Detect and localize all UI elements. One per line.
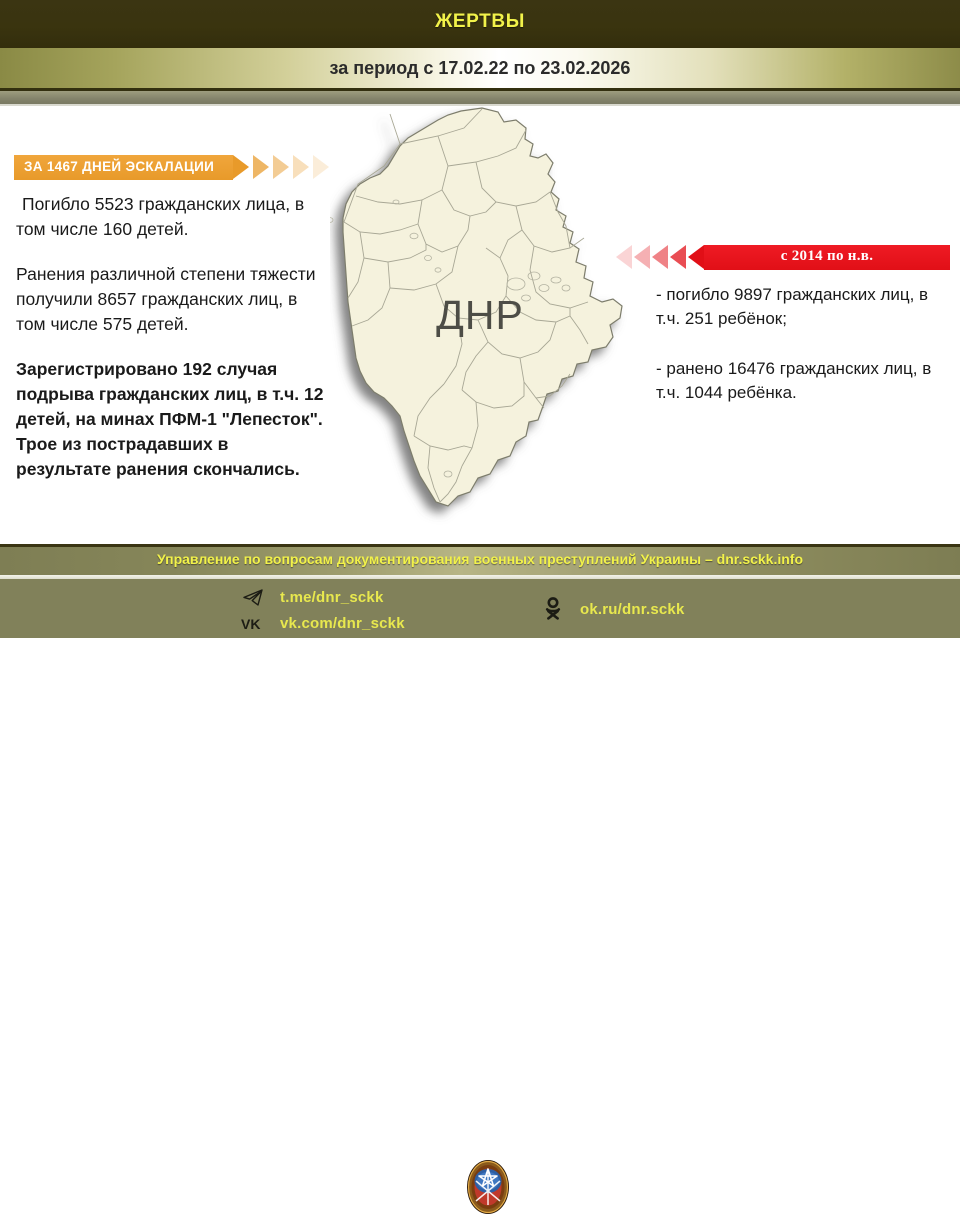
mine-incidents-text: Зарегистрировано 192 случая подрыва граж… xyxy=(16,357,328,482)
chevron-left-icon xyxy=(652,245,668,269)
chevron-left-icon xyxy=(634,245,650,269)
footer-links-left: t.me/dnr_sckk VK vk.com/dnr_sckk xyxy=(240,584,405,636)
wounded-since-2014-text: - ранено 16476 гражданских лиц, в т.ч. 1… xyxy=(656,357,952,405)
dnr-map: ДНР xyxy=(330,106,630,530)
left-statistics-block: Погибло 5523 гражданских лица, в том чис… xyxy=(16,192,328,482)
chevron-left-icon xyxy=(670,245,686,269)
chevron-right-icon xyxy=(313,155,329,179)
since-2014-banner: с 2014 по н.в. xyxy=(628,245,950,270)
map-region-label: ДНР xyxy=(330,292,630,339)
sckk-emblem-icon xyxy=(466,1159,510,1215)
chevron-right-icon xyxy=(253,155,269,179)
right-statistics-block: - погибло 9897 гражданских лиц, в т.ч. 2… xyxy=(656,283,952,405)
chevron-left-icon xyxy=(688,245,704,269)
escalation-days-banner: ЗА 1467 ДНЕЙ ЭСКАЛАЦИИ xyxy=(14,155,332,180)
odnoklassniki-link[interactable]: ok.ru/dnr.sckk xyxy=(540,596,685,622)
odnoklassniki-link-text: ok.ru/dnr.sckk xyxy=(580,601,685,618)
chevron-right-icon xyxy=(273,155,289,179)
telegram-icon xyxy=(240,589,266,606)
killed-civilians-text: Погибло 5523 гражданских лица, в том чис… xyxy=(16,192,328,242)
page-title: ЖЕРТВЫ xyxy=(0,11,960,33)
chevron-right-icon xyxy=(293,155,309,179)
telegram-link[interactable]: t.me/dnr_sckk xyxy=(240,584,405,610)
chevron-right-icon xyxy=(233,155,249,179)
footer-links-area: t.me/dnr_sckk VK vk.com/dnr_sckk ok.ru/d… xyxy=(0,579,960,638)
escalation-days-label: ЗА 1467 ДНЕЙ ЭСКАЛАЦИИ xyxy=(24,159,214,174)
killed-since-2014-text: - погибло 9897 гражданских лиц, в т.ч. 2… xyxy=(656,283,952,331)
wounded-civilians-text: Ранения различной степени тяжести получи… xyxy=(16,262,328,337)
vk-icon: VK xyxy=(240,616,266,631)
main-content: ЗА 1467 ДНЕЙ ЭСКАЛАЦИИ Погибло 5523 граж… xyxy=(0,106,960,544)
since-2014-label: с 2014 по н.в. xyxy=(704,248,950,265)
svg-text:VK: VK xyxy=(241,616,260,631)
header-divider-gradient xyxy=(0,91,960,104)
chevron-left-icon xyxy=(616,245,632,269)
vk-link[interactable]: VK vk.com/dnr_sckk xyxy=(240,610,405,636)
footer-links-right: ok.ru/dnr.sckk xyxy=(540,596,685,622)
vk-link-text: vk.com/dnr_sckk xyxy=(280,615,405,632)
period-label: за период с 17.02.22 по 23.02.2026 xyxy=(0,58,960,79)
telegram-link-text: t.me/dnr_sckk xyxy=(280,589,383,606)
footer-organization-label: Управление по вопросам документирования … xyxy=(0,551,960,567)
odnoklassniki-icon xyxy=(540,597,566,621)
